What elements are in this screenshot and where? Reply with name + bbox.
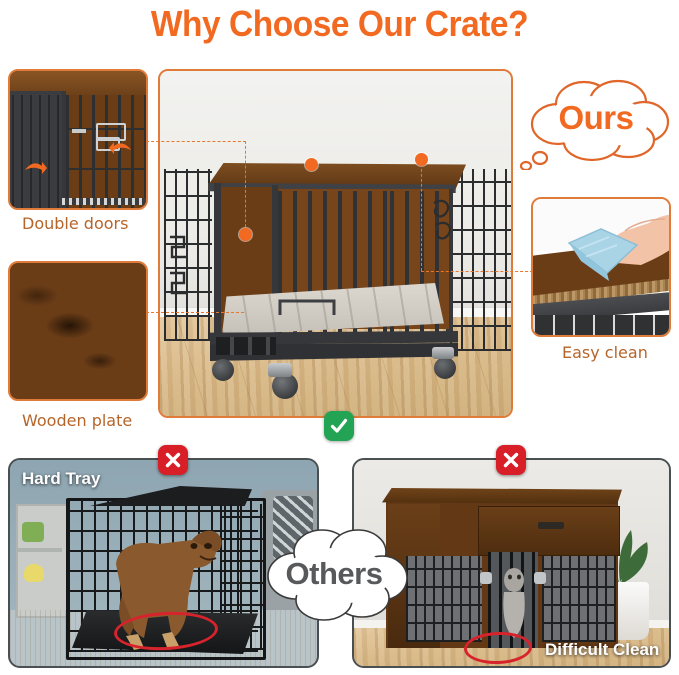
others-bubble: Others xyxy=(258,522,410,626)
cross-mark-icon xyxy=(163,450,183,470)
feature-label-wooden-plate: Wooden plate xyxy=(22,411,132,430)
cleaning-cloth-icon xyxy=(561,227,645,283)
approved-badge xyxy=(324,411,354,441)
reject-badge-difficult-clean xyxy=(496,445,526,475)
callout-line-double-doors-vertical xyxy=(245,141,246,232)
feature-photo-easy-clean xyxy=(531,197,671,337)
comparison-caption-hard-tray: Hard Tray xyxy=(22,469,100,489)
callout-line-easy-clean xyxy=(421,271,533,272)
caster-wheel xyxy=(212,359,234,381)
comparison-caption-difficult-clean: Difficult Clean xyxy=(545,640,659,660)
feature-label-double-doors: Double doors xyxy=(22,214,128,233)
ours-bubble-label: Ours xyxy=(516,66,676,170)
caster-wheel xyxy=(434,357,456,379)
callout-line-wooden-plate xyxy=(146,312,244,313)
ours-bubble: Ours xyxy=(516,72,676,170)
arrow-icon xyxy=(108,139,132,155)
hinge-icon xyxy=(534,572,546,584)
callout-dot-top-panel xyxy=(305,158,318,171)
check-mark-icon xyxy=(329,416,349,436)
latch-icon xyxy=(166,231,194,301)
arrow-icon xyxy=(24,159,48,175)
cross-mark-icon xyxy=(501,450,521,470)
handle-icon xyxy=(278,293,338,321)
others-bubble-label: Others xyxy=(258,522,410,626)
latch-icon xyxy=(428,195,464,255)
feature-photo-wooden-plate xyxy=(8,261,148,401)
page-title: Why Choose Our Crate? xyxy=(24,2,655,46)
reject-badge-hard-tray xyxy=(158,445,188,475)
hero-photo-our-crate xyxy=(158,69,513,418)
hinge-icon xyxy=(480,572,492,584)
feature-label-easy-clean: Easy clean xyxy=(562,343,648,362)
callout-dot-double-doors xyxy=(239,228,252,241)
callout-line-easy-clean-vertical xyxy=(421,159,422,271)
feature-photo-double-doors xyxy=(8,69,148,210)
callout-line-double-doors xyxy=(146,141,246,142)
